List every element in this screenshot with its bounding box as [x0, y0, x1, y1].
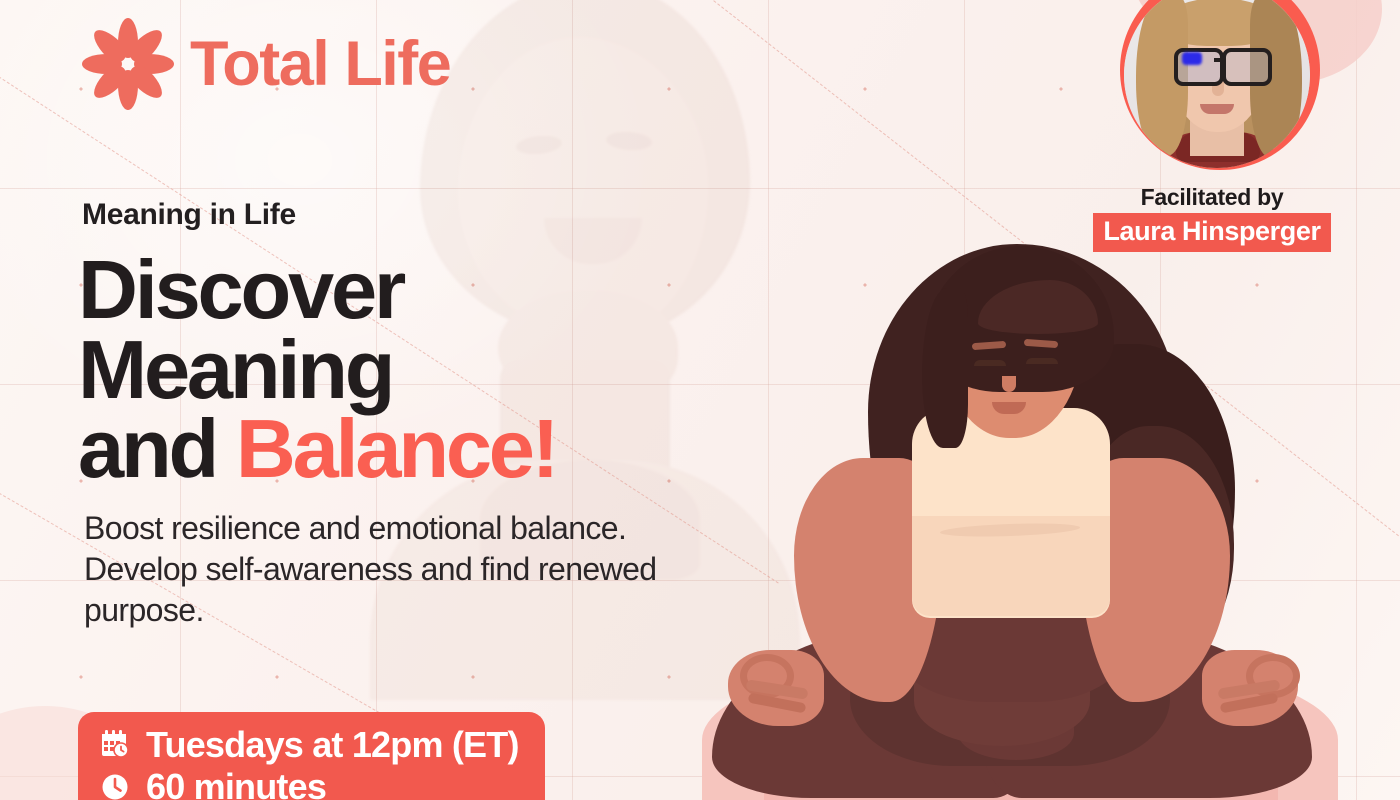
webinar-promo-poster: Total Life Meaning in Life Discover Mean…: [0, 0, 1400, 800]
headline-accent-word: Balance!: [236, 402, 556, 495]
facilitator-portrait: [1124, 0, 1310, 168]
brand-name: Total Life: [190, 33, 450, 96]
headline-line-1: Discover: [78, 250, 738, 330]
program-category-label: Meaning in Life: [82, 198, 296, 232]
brand-logo[interactable]: Total Life: [82, 18, 450, 110]
facilitator-name: Laura Hinsperger: [1093, 213, 1330, 252]
avatar: [1112, 0, 1312, 176]
flower-icon: [82, 18, 174, 110]
schedule-when-text: Tuesdays at 12pm (ET): [146, 725, 519, 765]
page-title: Discover Meaning and Balance!: [78, 250, 738, 489]
clock-icon: [98, 770, 132, 800]
headline-line-3-plain: and: [78, 402, 236, 495]
headline-line-3: and Balance!: [78, 409, 738, 489]
calendar-clock-icon: [98, 728, 132, 762]
meditating-woman-illustration: [690, 236, 1350, 800]
schedule-row-when: Tuesdays at 12pm (ET): [98, 725, 519, 765]
facilitator-block: Facilitated by Laura Hinsperger: [1092, 0, 1332, 252]
hero-description: Boost resilience and emotional balance. …: [84, 508, 724, 631]
schedule-row-duration: 60 minutes: [98, 767, 519, 800]
schedule-banner: Tuesdays at 12pm (ET) 60 minutes: [78, 712, 545, 800]
facilitated-by-label: Facilitated by: [1092, 184, 1332, 211]
headline-line-2: Meaning: [78, 330, 738, 410]
schedule-duration-text: 60 minutes: [146, 767, 326, 800]
